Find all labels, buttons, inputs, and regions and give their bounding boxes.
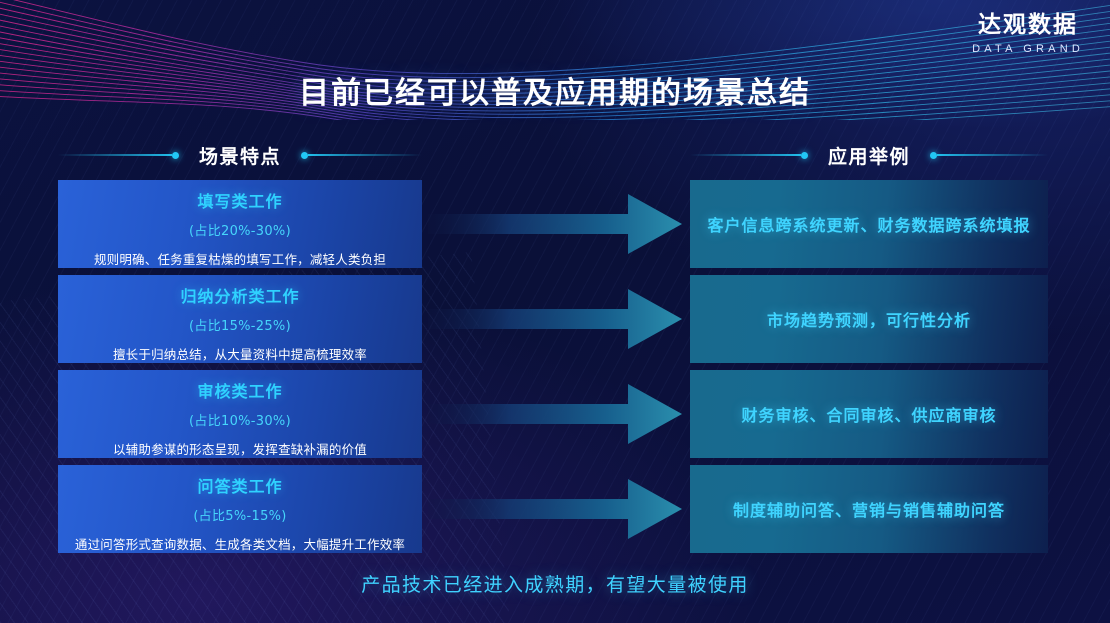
arrow-right-icon: [428, 382, 682, 446]
heading-line-left: [58, 154, 172, 156]
arrow-right-icon: [428, 477, 682, 541]
example-card[interactable]: 客户信息跨系统更新、财务数据跨系统填报: [690, 180, 1048, 268]
scene-card[interactable]: 归纳分析类工作 (占比15%-25%) 擅长于归纳总结，从大量资料中提高梳理效率: [58, 275, 422, 363]
heading-dot-right: [801, 152, 808, 159]
heading-line-right: [690, 154, 801, 156]
column-heading-left: 场景特点: [58, 140, 422, 170]
scene-description: 擅长于归纳总结，从大量资料中提高梳理效率: [113, 344, 367, 363]
arrow-right-icon: [428, 287, 682, 351]
scene-title: 审核类工作: [197, 382, 282, 401]
brand-name-cn: 达观数据: [972, 14, 1084, 37]
brand-logo: 达观数据 DATA GRAND: [972, 14, 1084, 55]
heading-line-right-end: [937, 154, 1048, 156]
scene-description: 规则明确、任务重复枯燥的填写工作，减轻人类负担: [94, 249, 386, 268]
scene-proportion: (占比10%-30%): [189, 410, 291, 429]
footer-caption: 产品技术已经进入成熟期，有望大量被使用: [0, 570, 1110, 597]
example-title: 制度辅助问答、营销与销售辅助问答: [733, 497, 1005, 521]
example-card[interactable]: 财务审核、合同审核、供应商审核: [690, 370, 1048, 458]
heading-line-left-end: [308, 154, 422, 156]
column-heading-right: 应用举例: [690, 140, 1048, 170]
scene-title: 归纳分析类工作: [180, 287, 299, 306]
heading-dot-left: [172, 152, 179, 159]
scene-card[interactable]: 审核类工作 (占比10%-30%) 以辅助参谋的形态呈现，发挥查缺补漏的价值: [58, 370, 422, 458]
heading-dot-left-end: [301, 152, 308, 159]
brand-name-en: DATA GRAND: [972, 44, 1084, 55]
heading-dot-right-end: [930, 152, 937, 159]
scene-proportion: (占比20%-30%): [189, 220, 291, 239]
column-heading-left-label: 场景特点: [179, 142, 301, 169]
scene-proportion: (占比15%-25%): [189, 315, 291, 334]
example-card[interactable]: 制度辅助问答、营销与销售辅助问答: [690, 465, 1048, 553]
scene-title: 问答类工作: [197, 477, 282, 496]
scene-title: 填写类工作: [197, 192, 282, 211]
slide-root: 达观数据 DATA GRAND 目前已经可以普及应用期的场景总结 场景特点 应用…: [0, 0, 1110, 623]
scene-description: 以辅助参谋的形态呈现，发挥查缺补漏的价值: [113, 439, 367, 458]
column-heading-right-label: 应用举例: [808, 142, 930, 169]
page-title: 目前已经可以普及应用期的场景总结: [0, 68, 1110, 112]
example-title: 财务审核、合同审核、供应商审核: [741, 402, 996, 426]
scene-proportion: (占比5%-15%): [193, 505, 286, 524]
example-card[interactable]: 市场趋势预测，可行性分析: [690, 275, 1048, 363]
example-title: 市场趋势预测，可行性分析: [767, 307, 971, 331]
scene-card[interactable]: 填写类工作 (占比20%-30%) 规则明确、任务重复枯燥的填写工作，减轻人类负…: [58, 180, 422, 268]
scene-description: 通过问答形式查询数据、生成各类文档，大幅提升工作效率: [75, 534, 405, 553]
arrow-right-icon: [428, 192, 682, 256]
scene-card[interactable]: 问答类工作 (占比5%-15%) 通过问答形式查询数据、生成各类文档，大幅提升工…: [58, 465, 422, 553]
example-title: 客户信息跨系统更新、财务数据跨系统填报: [707, 212, 1030, 236]
